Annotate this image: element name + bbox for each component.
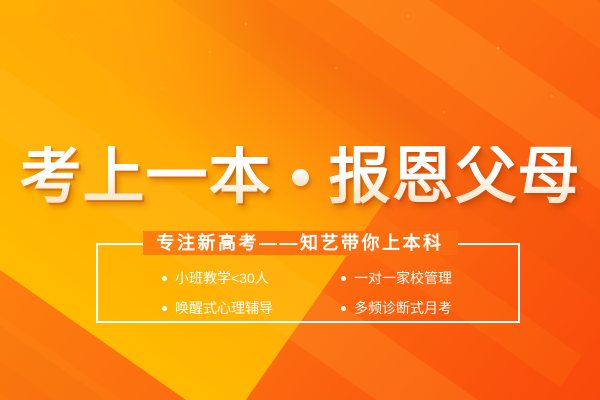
feature-item: 小班教学<30人 [162, 263, 341, 293]
bullet-icon [341, 276, 346, 281]
feature-item: 多频诊断式月考 [341, 293, 520, 323]
bullet-icon [162, 306, 167, 311]
bullet-icon [341, 306, 346, 311]
feature-item: 一对一家校管理 [341, 263, 520, 293]
feature-label: 多频诊断式月考 [354, 301, 452, 315]
feature-list: 小班教学<30人 一对一家校管理 唤醒式心理辅导 多频诊断式月考 [96, 263, 520, 323]
feature-item: 唤醒式心理辅导 [162, 293, 341, 323]
headline-left-text: 考上一本 [19, 146, 271, 208]
headline: 考上一本 报恩父母 [0, 136, 600, 218]
feature-label: 唤醒式心理辅导 [175, 301, 273, 315]
bullet-icon [162, 276, 167, 281]
feature-label: 一对一家校管理 [354, 271, 452, 285]
headline-right-text: 报恩父母 [329, 146, 581, 208]
feature-label: 小班教学<30人 [175, 271, 269, 285]
dot-separator-icon [292, 169, 309, 186]
promo-banner: 考上一本 报恩父母 专注新高考——知艺带你上本科 小班教学<30人 一对一家校管… [0, 0, 600, 400]
